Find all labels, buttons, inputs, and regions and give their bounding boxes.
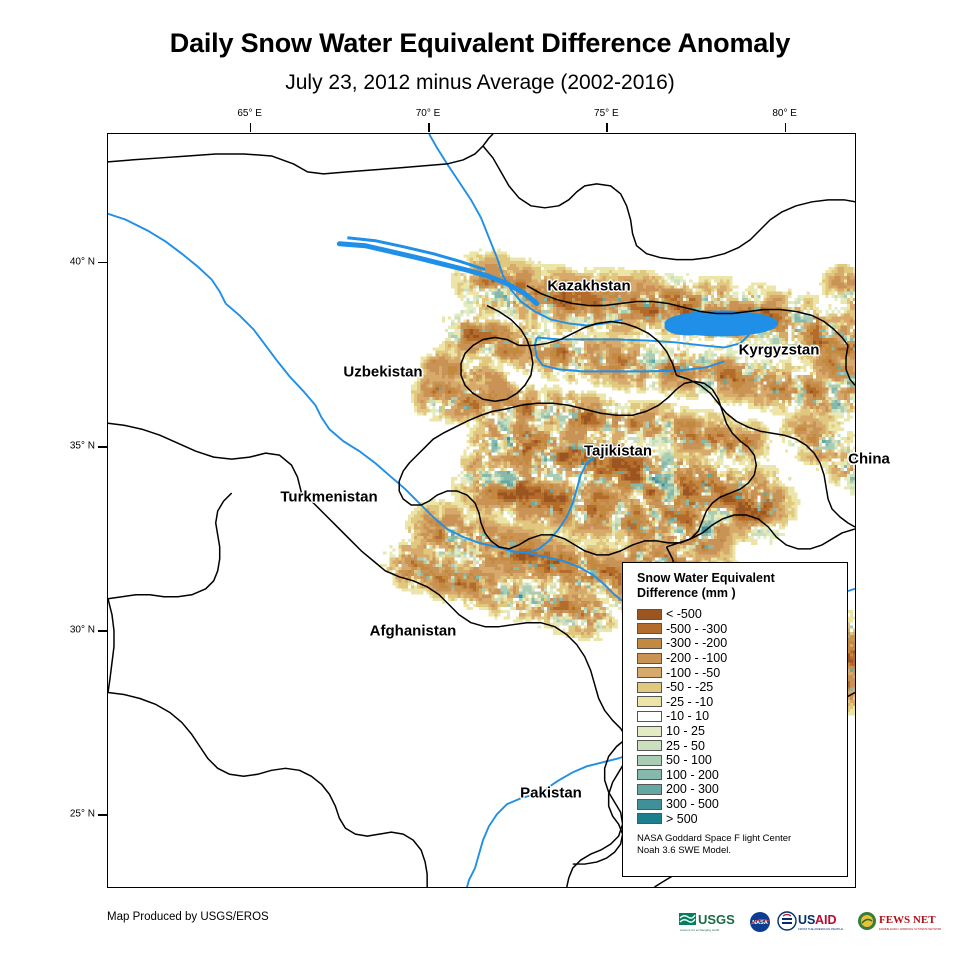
legend-swatch bbox=[637, 623, 662, 634]
legend-row: 50 - 100 bbox=[637, 753, 847, 768]
legend-label: 25 - 50 bbox=[666, 740, 705, 752]
lon-label-75: 75° E bbox=[594, 108, 619, 119]
nasa-logo[interactable]: NASA bbox=[749, 911, 771, 933]
lat-label-40: 40° N bbox=[70, 256, 95, 267]
lat-tick-25 bbox=[98, 814, 107, 816]
svg-text:AID: AID bbox=[815, 913, 837, 927]
lon-label-70: 70° E bbox=[416, 108, 441, 119]
fewsnet-logo[interactable]: FEWS NET FAMINE EARLY WARNING SYSTEMS NE… bbox=[857, 911, 941, 933]
lat-label-30: 30° N bbox=[70, 625, 95, 636]
legend-swatch bbox=[637, 755, 662, 766]
legend-label: 100 - 200 bbox=[666, 769, 719, 781]
legend-label: -25 - -10 bbox=[666, 696, 713, 708]
legend-swatch bbox=[637, 711, 662, 722]
legend-swatch bbox=[637, 638, 662, 649]
svg-text:US: US bbox=[798, 913, 815, 927]
legend-label: -500 - -300 bbox=[666, 623, 727, 635]
svg-text:FEWS NET: FEWS NET bbox=[879, 914, 936, 926]
lat-tick-40 bbox=[98, 262, 107, 264]
legend-note-line2: Noah 3.6 SWE Model. bbox=[637, 845, 842, 857]
svg-text:FAMINE EARLY WARNING SYSTEMS N: FAMINE EARLY WARNING SYSTEMS NETWORK bbox=[879, 927, 941, 931]
lat-tick-35 bbox=[98, 446, 107, 448]
country-label-tajikistan: Tajikistan bbox=[584, 443, 652, 460]
page-title: Daily Snow Water Equivalent Difference A… bbox=[0, 28, 960, 59]
legend-label: 200 - 300 bbox=[666, 783, 719, 795]
legend-swatch bbox=[637, 653, 662, 664]
usgs-logo[interactable]: USGS science for a changing world bbox=[679, 911, 743, 933]
page-subtitle: July 23, 2012 minus Average (2002-2016) bbox=[0, 71, 960, 95]
legend-label: -100 - -50 bbox=[666, 667, 720, 679]
svg-text:NASA: NASA bbox=[752, 920, 768, 926]
legend-swatch bbox=[637, 813, 662, 824]
legend-row: -10 - 10 bbox=[637, 709, 847, 724]
legend-note: NASA Goddard Space F light Center Noah 3… bbox=[637, 833, 842, 857]
svg-text:FROM THE AMERICAN PEOPLE: FROM THE AMERICAN PEOPLE bbox=[798, 927, 843, 931]
svg-text:USGS: USGS bbox=[698, 912, 735, 927]
country-label-kazakhstan: Kazakhstan bbox=[547, 278, 630, 295]
legend-label: -10 - 10 bbox=[666, 710, 709, 722]
legend-title-line1: Snow Water Equivalent bbox=[637, 571, 837, 586]
legend-row: -100 - -50 bbox=[637, 665, 847, 680]
legend-row: -50 - -25 bbox=[637, 680, 847, 695]
legend-title: Snow Water Equivalent Difference (mm ) bbox=[637, 571, 837, 601]
country-label-china: China bbox=[848, 451, 890, 468]
lon-tick-75 bbox=[606, 123, 608, 132]
country-label-afghanistan: Afghanistan bbox=[370, 623, 457, 640]
legend-label: 10 - 25 bbox=[666, 725, 705, 737]
legend-label: < -500 bbox=[666, 608, 702, 620]
legend-row: 25 - 50 bbox=[637, 738, 847, 753]
legend-row: 100 - 200 bbox=[637, 768, 847, 783]
svg-text:science for a changing world: science for a changing world bbox=[680, 928, 719, 932]
country-label-turkmenistan: Turkmenistan bbox=[280, 489, 377, 506]
legend-label: -200 - -100 bbox=[666, 652, 727, 664]
legend-entries: < -500-500 - -300-300 - -200-200 - -100-… bbox=[637, 607, 847, 826]
legend-row: 10 - 25 bbox=[637, 724, 847, 739]
legend-swatch bbox=[637, 682, 662, 693]
country-label-kyrgyzstan: Kyrgyzstan bbox=[739, 342, 820, 359]
legend-label: -300 - -200 bbox=[666, 637, 727, 649]
legend-swatch bbox=[637, 799, 662, 810]
map-page: Daily Snow Water Equivalent Difference A… bbox=[0, 0, 960, 960]
agency-logos: USGS science for a changing world NASA U… bbox=[679, 909, 941, 935]
legend-row: -300 - -200 bbox=[637, 636, 847, 651]
lat-label-35: 35° N bbox=[70, 441, 95, 452]
legend-label: -50 - -25 bbox=[666, 681, 713, 693]
legend-row: -500 - -300 bbox=[637, 622, 847, 637]
legend-row: -200 - -100 bbox=[637, 651, 847, 666]
legend-row: 200 - 300 bbox=[637, 782, 847, 797]
usaid-logo[interactable]: US AID FROM THE AMERICAN PEOPLE bbox=[777, 911, 851, 933]
legend-swatch bbox=[637, 769, 662, 780]
legend-label: > 500 bbox=[666, 813, 698, 825]
legend-row: > 500 bbox=[637, 811, 847, 826]
legend-swatch bbox=[637, 609, 662, 620]
lat-tick-30 bbox=[98, 630, 107, 632]
footer-credit: Map Produced by USGS/EROS bbox=[107, 911, 269, 923]
legend-swatch bbox=[637, 696, 662, 707]
lon-label-65: 65° E bbox=[237, 108, 262, 119]
lon-label-80: 80° E bbox=[772, 108, 797, 119]
map-legend[interactable]: Snow Water Equivalent Difference (mm ) <… bbox=[622, 562, 848, 877]
legend-row: < -500 bbox=[637, 607, 847, 622]
lon-tick-70 bbox=[428, 123, 430, 132]
country-label-pakistan: Pakistan bbox=[520, 785, 582, 802]
legend-label: 50 - 100 bbox=[666, 754, 712, 766]
legend-swatch bbox=[637, 740, 662, 751]
legend-swatch bbox=[637, 667, 662, 678]
legend-row: 300 - 500 bbox=[637, 797, 847, 812]
legend-note-line1: NASA Goddard Space F light Center bbox=[637, 833, 842, 845]
legend-title-line2: Difference (mm ) bbox=[637, 586, 837, 601]
legend-swatch bbox=[637, 784, 662, 795]
lon-tick-65 bbox=[250, 123, 252, 132]
lon-tick-80 bbox=[785, 123, 787, 132]
country-label-uzbekistan: Uzbekistan bbox=[343, 364, 422, 381]
lat-label-25: 25° N bbox=[70, 809, 95, 820]
legend-swatch bbox=[637, 726, 662, 737]
legend-row: -25 - -10 bbox=[637, 695, 847, 710]
legend-label: 300 - 500 bbox=[666, 798, 719, 810]
